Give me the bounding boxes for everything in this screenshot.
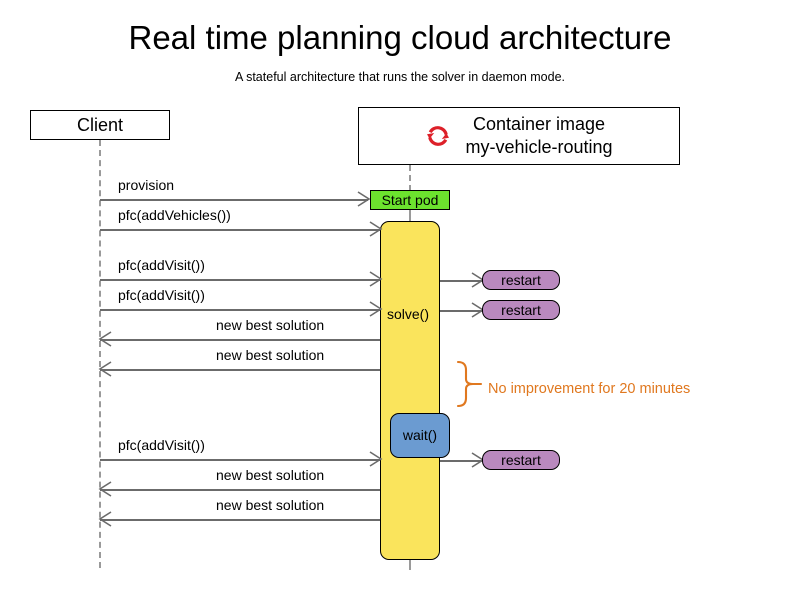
message-label-best-solution-4: new best solution bbox=[216, 497, 324, 514]
node-restart-1-label: restart bbox=[501, 272, 541, 289]
participant-client[interactable]: Client bbox=[30, 110, 170, 140]
node-restart-3-label: restart bbox=[501, 452, 541, 469]
message-line-best-solution-2 bbox=[100, 369, 380, 371]
message-label-add-vehicles: pfc(addVehicles()) bbox=[118, 207, 231, 224]
node-restart-1[interactable]: restart bbox=[482, 270, 560, 290]
node-wait[interactable]: wait() bbox=[390, 413, 450, 458]
sync-icon bbox=[425, 123, 451, 149]
message-line-best-solution-4 bbox=[100, 519, 380, 521]
arrowhead-best-solution-1 bbox=[98, 332, 112, 346]
node-restart-2-label: restart bbox=[501, 302, 541, 319]
annotation-no-improvement: No improvement for 20 minutes bbox=[488, 380, 690, 398]
arrowhead-best-solution-3 bbox=[98, 482, 112, 496]
node-restart-2[interactable]: restart bbox=[482, 300, 560, 320]
node-start-pod-label: Start pod bbox=[382, 192, 439, 209]
arrowhead-add-visit-2 bbox=[369, 302, 383, 316]
message-line-best-solution-1 bbox=[100, 339, 380, 341]
arrowhead-add-visit-3 bbox=[369, 452, 383, 466]
arrowhead-provision bbox=[357, 192, 371, 206]
node-restart-3[interactable]: restart bbox=[482, 450, 560, 470]
arrowhead-add-visit-1 bbox=[369, 272, 383, 286]
participant-container-image[interactable]: Container image my-vehicle-routing bbox=[358, 107, 680, 165]
curly-brace-icon bbox=[455, 360, 481, 408]
message-line-add-visit-2 bbox=[100, 309, 380, 311]
message-label-add-visit-1: pfc(addVisit()) bbox=[118, 257, 205, 274]
arrowhead-best-solution-2 bbox=[98, 362, 112, 376]
activation-bar-solve-label: solve() bbox=[387, 305, 429, 323]
participant-container-label: Container image my-vehicle-routing bbox=[465, 113, 612, 159]
page-subtitle: A stateful architecture that runs the so… bbox=[0, 68, 800, 86]
participant-client-label: Client bbox=[77, 114, 123, 137]
container-lifeline-bottom bbox=[409, 560, 411, 570]
message-line-best-solution-3 bbox=[100, 489, 380, 491]
message-line-add-vehicles bbox=[100, 229, 380, 231]
message-line-add-visit-1 bbox=[100, 279, 380, 281]
message-line-add-visit-3 bbox=[100, 459, 380, 461]
message-label-best-solution-3: new best solution bbox=[216, 467, 324, 484]
container-lifeline-top bbox=[409, 165, 411, 191]
container-header-content: Container image my-vehicle-routing bbox=[359, 113, 679, 159]
message-label-best-solution-2: new best solution bbox=[216, 347, 324, 364]
message-line-provision bbox=[100, 199, 368, 201]
message-label-add-visit-3: pfc(addVisit()) bbox=[118, 437, 205, 454]
node-start-pod[interactable]: Start pod bbox=[370, 190, 450, 210]
activation-bar-solve bbox=[380, 221, 440, 560]
node-wait-label: wait() bbox=[403, 427, 437, 444]
page-title: Real time planning cloud architecture bbox=[0, 18, 800, 58]
sequence-diagram-canvas: Real time planning cloud architecture A … bbox=[0, 0, 800, 600]
message-label-add-visit-2: pfc(addVisit()) bbox=[118, 287, 205, 304]
arrowhead-add-vehicles bbox=[369, 222, 383, 236]
message-label-provision: provision bbox=[118, 177, 174, 194]
message-label-best-solution-1: new best solution bbox=[216, 317, 324, 334]
arrowhead-best-solution-4 bbox=[98, 512, 112, 526]
client-lifeline bbox=[99, 140, 101, 568]
